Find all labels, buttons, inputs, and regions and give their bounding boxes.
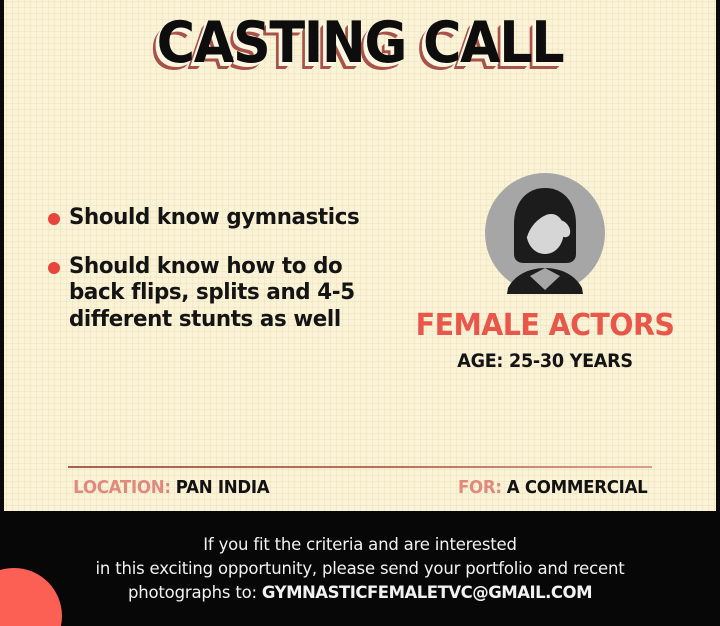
meta-divider [68, 466, 652, 468]
footer-line-3-prefix: photographs to: [128, 583, 257, 603]
requirement-item: Should know gymnastics [48, 204, 408, 231]
footer-instructions: If you fit the criteria and are interest… [0, 511, 720, 605]
for-label: FOR: [458, 478, 502, 498]
female-avatar-icon [484, 172, 606, 294]
footer-line-1: If you fit the criteria and are interest… [11, 533, 709, 557]
requirement-text: Should know gymnastics [69, 204, 359, 231]
role-title: FEMALE ACTORS [407, 308, 683, 343]
requirement-text: Should know how to do back flips, splits… [69, 253, 391, 333]
poster-headline: CASTING CALL [157, 14, 564, 74]
footer-line-2: in this exciting opportunity, please sen… [11, 557, 709, 581]
footer-line-3: photographs to: GYMNASTICFEMALETVC@GMAIL… [11, 581, 709, 605]
location-label: LOCATION: [73, 478, 171, 498]
location-value: PAN INDIA [176, 478, 270, 498]
role-age-range: AGE: 25-30 YEARS [407, 351, 683, 372]
requirements-list: Should know gymnastics Should know how t… [48, 204, 408, 354]
casting-call-poster: CASTING CALL Should know gymnastics Shou… [0, 0, 720, 626]
headline-container: CASTING CALL [0, 14, 720, 74]
left-edge-rail [0, 0, 4, 511]
footer-band: If you fit the criteria and are interest… [0, 511, 720, 626]
for-value: A COMMERCIAL [506, 478, 647, 498]
bullet-dot-icon [48, 262, 60, 274]
requirement-item: Should know how to do back flips, splits… [48, 253, 408, 333]
right-edge-rail [716, 0, 720, 511]
meta-row: LOCATION: PAN INDIA FOR: A COMMERCIAL [68, 478, 652, 498]
for-cell: FOR: A COMMERCIAL [458, 478, 647, 498]
contact-email[interactable]: GYMNASTICFEMALETVC@GMAIL.COM [262, 583, 592, 603]
role-block: FEMALE ACTORS AGE: 25-30 YEARS [400, 172, 690, 372]
bullet-dot-icon [48, 213, 60, 225]
location-cell: LOCATION: PAN INDIA [73, 478, 269, 498]
